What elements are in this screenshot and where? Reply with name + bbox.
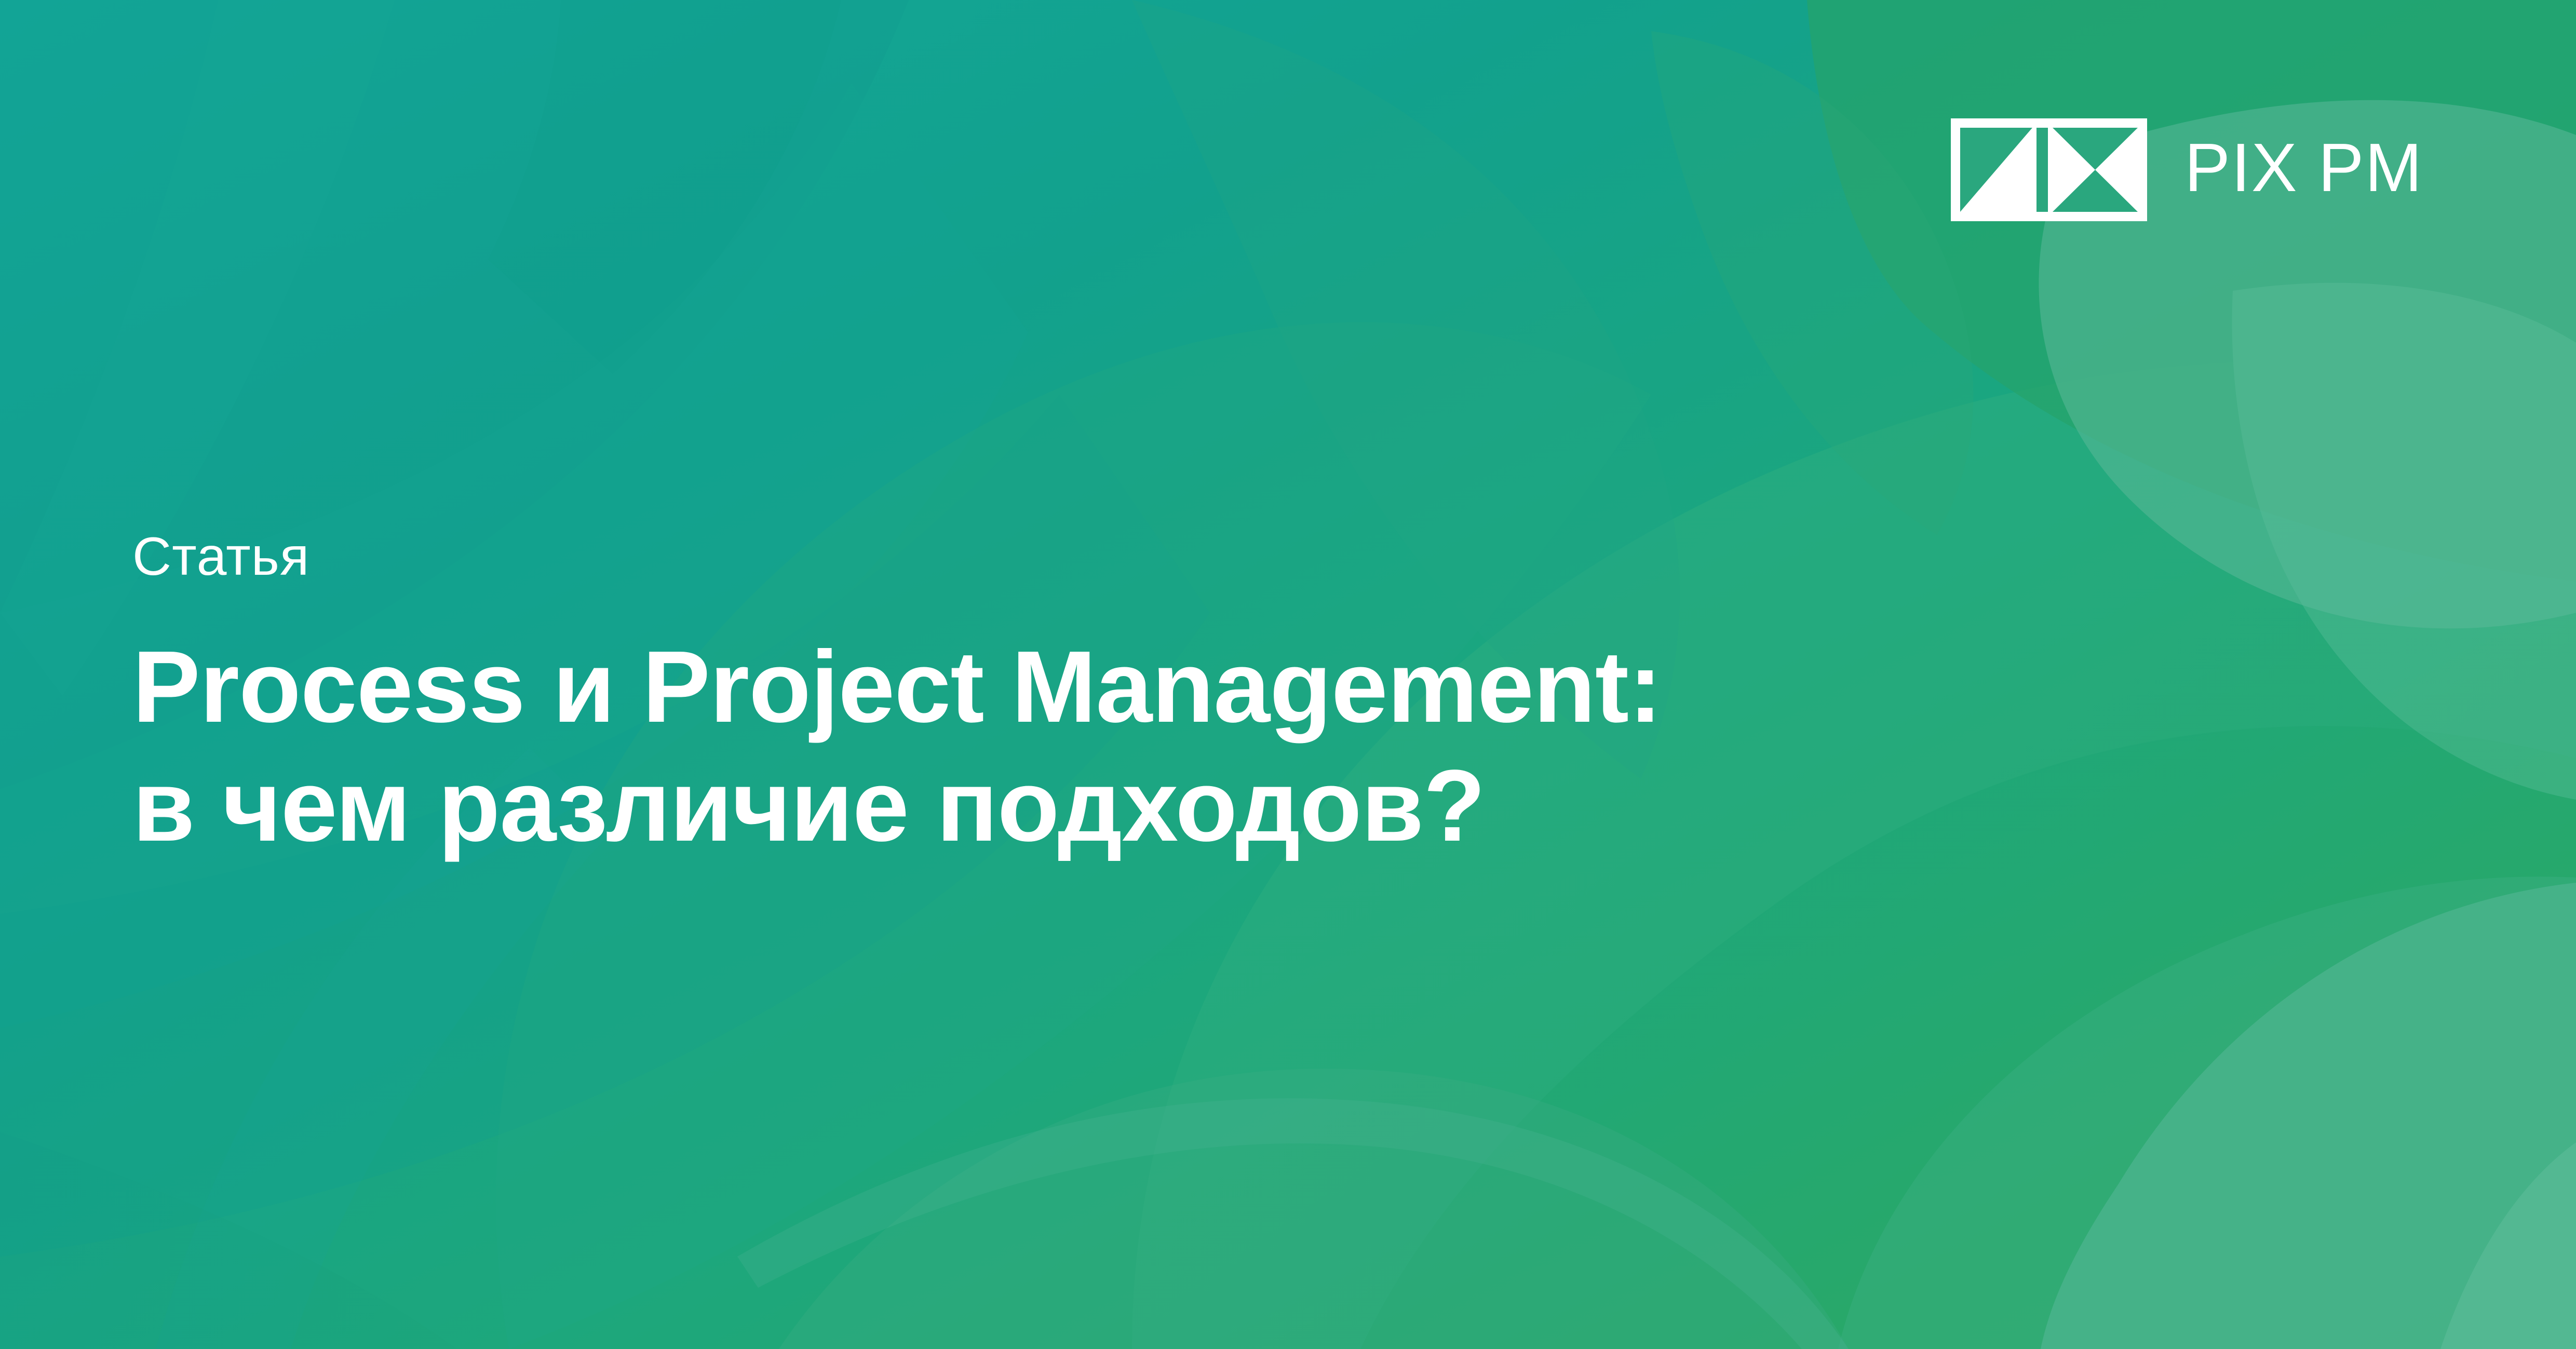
page-title: Process и Project Management: в чем разл…: [132, 627, 2313, 866]
pix-pm-logo-mark-icon: [1951, 118, 2147, 221]
headline-line-1: Process и Project Management:: [132, 627, 2313, 746]
brand-logo-lockup[interactable]: PIX PM: [1951, 118, 2423, 221]
brand-wordmark: PIX PM: [2184, 133, 2423, 202]
article-cover: PIX PM Статья Process и Project Manageme…: [0, 0, 2576, 1349]
headline-line-2: в чем различие подходов?: [132, 746, 2313, 865]
cover-text-block: Статья Process и Project Management: в ч…: [132, 530, 2313, 866]
eyebrow-label: Статья: [132, 530, 2313, 584]
